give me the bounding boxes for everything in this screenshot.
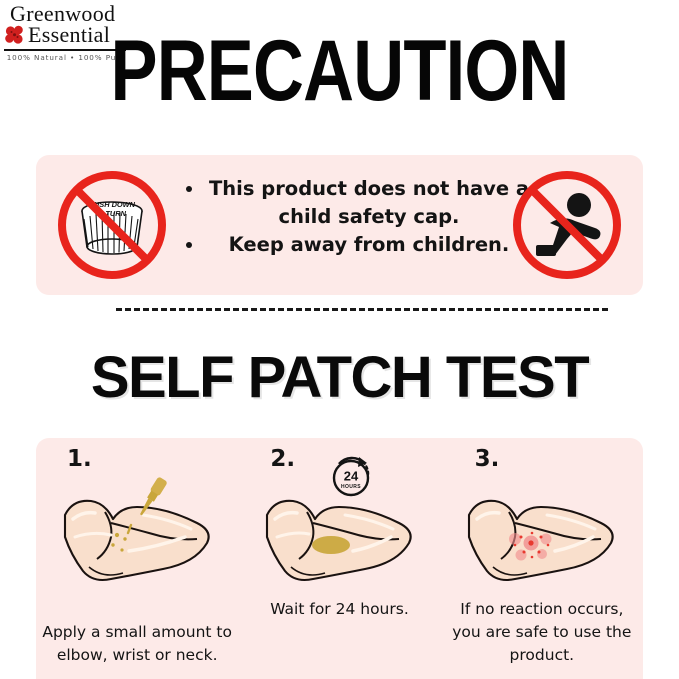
svg-text:HOURS: HOURS xyxy=(341,484,361,490)
precaution-heading: PRECAUTION xyxy=(61,28,618,114)
elbow-with-24-hours-clock-icon: 24 HOURS xyxy=(238,464,440,594)
elbow-with-dropper-icon xyxy=(36,464,238,594)
dashed-divider xyxy=(116,308,608,311)
bullet-dot-icon xyxy=(186,186,192,192)
no-child-safety-cap-icon: PUSH DOWN & TURN xyxy=(54,167,170,283)
step-caption: Wait for 24 hours. xyxy=(242,598,436,621)
bullet-dot-icon xyxy=(186,242,192,248)
elbow-with-rash-icon xyxy=(441,464,643,594)
precaution-bullet-item: This product does not have a child safet… xyxy=(186,175,536,231)
step-caption: Apply a small amount to elbow, wrist or … xyxy=(40,621,234,667)
precaution-bullet-item: Keep away from children. xyxy=(186,231,536,259)
precaution-bullet-text: This product does not have a child safet… xyxy=(202,175,536,231)
step-caption: If no reaction occurs, you are safe to u… xyxy=(445,598,639,667)
svg-text:24: 24 xyxy=(344,469,359,484)
flower-icon xyxy=(4,24,26,46)
patch-test-step-1: 1. xyxy=(36,438,238,679)
patch-test-step-3: 3. xyxy=(441,438,643,679)
patch-test-steps-panel: 1. xyxy=(36,438,643,679)
no-children-icon xyxy=(509,167,625,283)
patch-test-step-2: 2. xyxy=(238,438,440,679)
precaution-bullet-list: This product does not have a child safet… xyxy=(186,175,536,259)
self-patch-test-heading: SELF PATCH TEST xyxy=(0,348,679,408)
precaution-panel: PUSH DOWN & TURN This product does not h… xyxy=(36,155,643,295)
twenty-four-hours-badge-icon: 24 HOURS xyxy=(323,446,379,502)
precaution-bullet-text: Keep away from children. xyxy=(202,231,536,259)
